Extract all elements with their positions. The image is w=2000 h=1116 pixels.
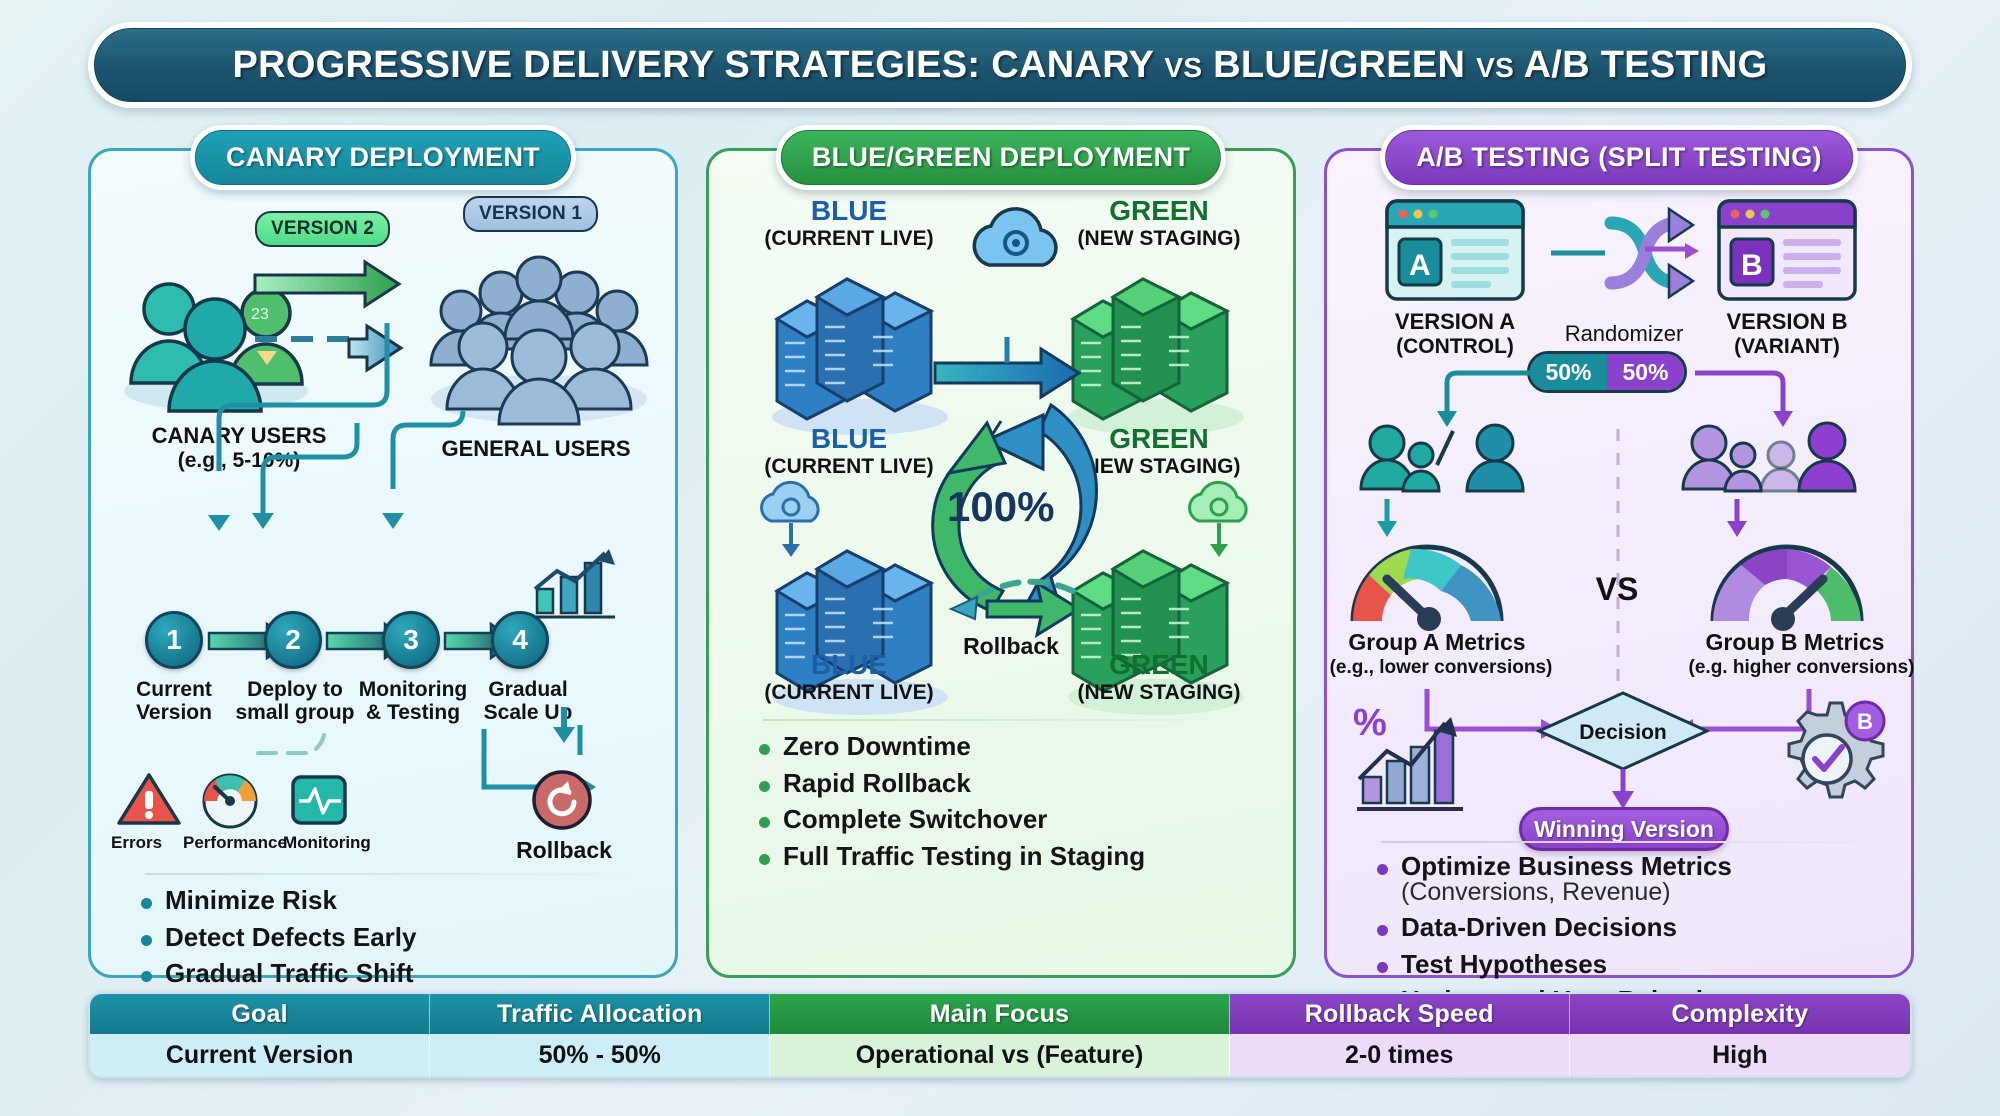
monitoring-label: Monitoring: [283, 833, 371, 853]
browser-window-b-icon: B: [1717, 199, 1857, 301]
step-3-label-line1: Monitoring: [359, 678, 467, 701]
divider: [763, 719, 1257, 721]
group-divider: [1615, 429, 1621, 699]
green-sub-bottom: (NEW STAGING): [1029, 681, 1289, 705]
step-2-label-line1: Deploy to: [247, 678, 343, 701]
group-b-sub: (e.g. higher conversions): [1679, 657, 1924, 679]
blue-sub-top: (CURRENT LIVE): [719, 227, 979, 251]
title-vs-1: VS: [1164, 52, 1202, 83]
panel-bluegreen-deployment: BLUE/GREEN DEPLOYMENT BLUE (CURRENT LIVE…: [706, 148, 1296, 978]
title-vs-2: VS: [1476, 52, 1514, 83]
step-3-label-line2: & Testing: [366, 701, 460, 724]
randomizer-shuffle-icon: [1549, 209, 1697, 301]
list-item: Gradual Traffic Shift: [131, 960, 655, 988]
title-banner: PROGRESSIVE DELIVERY STRATEGIES: CANARY …: [88, 22, 1912, 108]
table-cell: Operational vs (Feature): [770, 1034, 1229, 1076]
traffic-percent-label: 100%: [947, 483, 1054, 530]
table-cell: High: [1570, 1034, 1910, 1076]
title-mid: BLUE/GREEN: [1213, 44, 1465, 86]
title-main: PROGRESSIVE DELIVERY STRATEGIES: CANARY: [232, 44, 1153, 86]
green-label-top: GREEN: [1049, 195, 1269, 227]
version-a-sub: (CONTROL): [1365, 335, 1545, 359]
rollback-icon: [531, 769, 595, 831]
panel-canary-deployment: CANARY DEPLOYMENT VERSION 2 VERSION 1 23: [88, 148, 678, 978]
divider: [1381, 841, 1875, 843]
growth-chart-icon: [531, 549, 619, 621]
version-b-label: VERSION B: [1697, 309, 1877, 335]
title-bar: PROGRESSIVE DELIVERY STRATEGIES: CANARY …: [94, 28, 1906, 102]
group-a-sub: (e.g., lower conversions): [1321, 657, 1561, 679]
randomizer-label: Randomizer: [1539, 321, 1709, 347]
blue-sub-bottom: (CURRENT LIVE): [719, 681, 979, 705]
badge-letter: B: [1857, 709, 1873, 734]
decision-diamond: Decision: [1533, 689, 1713, 773]
step-circle-3: 3: [382, 611, 440, 669]
table-cell: 50% - 50%: [430, 1034, 770, 1076]
title-end: A/B TESTING: [1524, 44, 1768, 86]
list-item: Zero Downtime: [749, 733, 1273, 761]
errors-label: Errors: [111, 833, 162, 853]
list-item: Optimize Business Metrics (Conversions, …: [1367, 853, 1891, 905]
table-column-traffic-allocation: Traffic Allocation 50% - 50%: [430, 994, 770, 1076]
group-a-label: Group A Metrics: [1337, 629, 1537, 656]
green-label-bottom: GREEN: [1049, 649, 1269, 681]
list-item: Full Traffic Testing in Staging: [749, 843, 1273, 871]
table-cell: 2-0 times: [1230, 1034, 1570, 1076]
table-header: Goal: [90, 994, 430, 1034]
list-item: Minimize Risk: [131, 887, 655, 915]
comparison-table: Goal Current Version Traffic Allocation …: [88, 992, 1912, 1078]
group-b-users-icon: [1677, 419, 1877, 507]
table-header: Traffic Allocation: [430, 994, 770, 1034]
blue-label-top: BLUE: [739, 195, 959, 227]
list-item-main: Optimize Business Metrics: [1401, 851, 1732, 881]
version-a-label: VERSION A: [1365, 309, 1545, 335]
group-b-label: Group B Metrics: [1695, 629, 1895, 656]
version-b-sub: (VARIANT): [1697, 335, 1877, 359]
blue-label-bottom: BLUE: [739, 649, 959, 681]
step-circle-4: 4: [491, 611, 549, 669]
rollback-down-arrow: [546, 707, 586, 749]
table-column-rollback-speed: Rollback Speed 2-0 times: [1230, 994, 1570, 1076]
divider: [145, 873, 639, 875]
step-circle-2: 2: [264, 611, 322, 669]
page-title: PROGRESSIVE DELIVERY STRATEGIES: CANARY …: [232, 44, 1767, 87]
errors-icon: [117, 771, 181, 829]
group-a-gauge-icon: [1339, 529, 1515, 629]
version-b-letter: B: [1741, 249, 1763, 282]
table-column-goal: Goal Current Version: [90, 994, 430, 1076]
badge-version-2: VERSION 2: [255, 211, 390, 247]
list-item: Complete Switchover: [749, 806, 1273, 834]
table-header: Complexity: [1570, 994, 1910, 1034]
table-header: Rollback Speed: [1230, 994, 1570, 1034]
percent-growth-chart-icon: %: [1351, 699, 1469, 817]
group-b-gauge-icon: [1699, 529, 1875, 629]
bluegreen-benefits: Zero Downtime Rapid Rollback Complete Sw…: [749, 719, 1273, 879]
list-item: Detect Defects Early: [131, 924, 655, 952]
list-item-sub: (Conversions, Revenue): [1401, 879, 1891, 906]
monitoring-icon: [289, 771, 349, 829]
table-header: Main Focus: [770, 994, 1229, 1034]
rollback-label: Rollback: [509, 837, 619, 864]
step-1-label-line2: Version: [136, 701, 212, 724]
performance-icon: [199, 771, 261, 829]
table-cell: Current Version: [90, 1034, 430, 1076]
panel-ab-testing: A/B TESTING (SPLIT TESTING) A: [1324, 148, 1914, 978]
browser-window-a-icon: A: [1385, 199, 1525, 301]
list-item: Data-Driven Decisions: [1367, 914, 1891, 942]
performance-label: Performance: [183, 833, 287, 853]
list-item: Test Hypotheses: [1367, 951, 1891, 979]
table-column-main-focus: Main Focus Operational vs (Feature): [770, 994, 1229, 1076]
percent-symbol: %: [1353, 702, 1387, 744]
step-1-label-line1: Current: [136, 678, 212, 701]
version-a-letter: A: [1409, 249, 1431, 282]
table-column-complexity: Complexity High: [1570, 994, 1910, 1076]
group-a-users-icon: [1355, 419, 1545, 507]
cloud-gear-icon: [967, 203, 1067, 275]
decision-label: Decision: [1579, 721, 1667, 744]
canary-connectors: [91, 301, 681, 591]
gear-check-icon: B: [1767, 699, 1887, 817]
step-circle-1: 1: [145, 611, 203, 669]
rollback-dashed-arrow: [933, 569, 1083, 639]
step-4-label-line1: Gradual: [488, 678, 567, 701]
badge-version-1: VERSION 1: [463, 196, 598, 232]
list-item: Rapid Rollback: [749, 770, 1273, 798]
green-sub-top: (NEW STAGING): [1029, 227, 1289, 251]
step-2-label-line2: small group: [235, 701, 354, 724]
